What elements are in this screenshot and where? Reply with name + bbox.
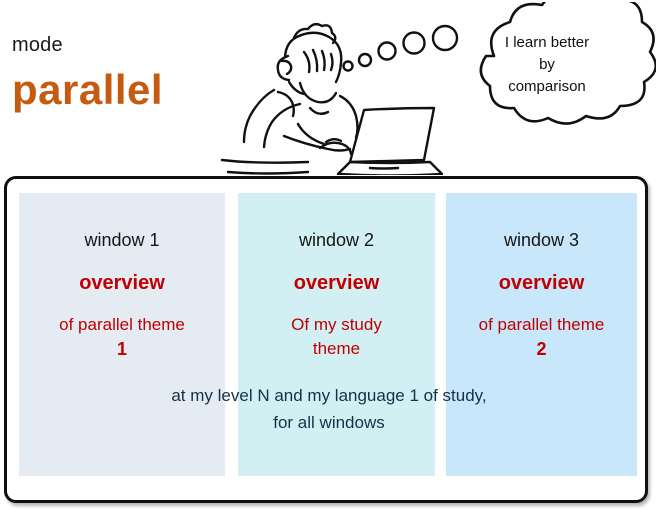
window-3-title: window 3 [446, 230, 637, 251]
window-3-subtitle-line-2: 2 [446, 337, 637, 361]
window-3-overview-label: overview [446, 272, 637, 295]
window-1-title: window 1 [19, 230, 225, 251]
window-2-title: window 2 [238, 230, 435, 251]
header: mode parallel [0, 0, 656, 172]
bubble-line-3: comparison [462, 76, 632, 98]
window-3-subtitle-line-1: of parallel theme [446, 313, 637, 337]
mode-label: mode [12, 34, 63, 57]
window-2-subtitle: Of my study theme [238, 313, 435, 361]
window-1-subtitle-line-2: 1 [19, 337, 225, 361]
mode-value: parallel [12, 66, 163, 114]
window-2-overview-label: overview [238, 272, 435, 295]
window-1-subtitle: of parallel theme 1 [19, 313, 225, 361]
windows-panel: window 1 overview of parallel theme 1 wi… [4, 176, 648, 503]
window-2-subtitle-line-2: theme [238, 337, 435, 361]
shared-settings-note-line-1: at my level N and my language 1 of study… [19, 382, 639, 409]
shared-settings-note: at my level N and my language 1 of study… [19, 382, 639, 436]
shared-settings-note-line-2: for all windows [19, 409, 639, 436]
bubble-line-1: I learn better [462, 32, 632, 54]
window-2-subtitle-line-1: Of my study [238, 313, 435, 337]
window-1-overview-label: overview [19, 272, 225, 295]
bubble-line-2: by [462, 54, 632, 76]
thought-bubble-text: I learn better by comparison [462, 32, 632, 98]
window-3-subtitle: of parallel theme 2 [446, 313, 637, 361]
columns-container: window 1 overview of parallel theme 1 wi… [7, 179, 645, 500]
window-1-subtitle-line-1: of parallel theme [19, 313, 225, 337]
